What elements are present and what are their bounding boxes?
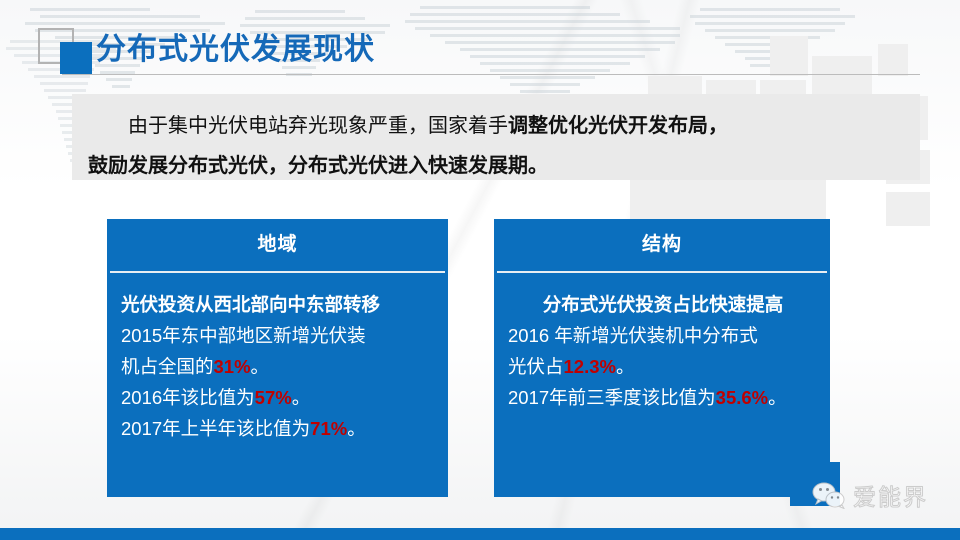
intro-line-1-bold: 调整优化光伏开发布局， xyxy=(508,115,728,137)
card-structure-subtitle: 分布式光伏投资占比快速提高 xyxy=(508,289,818,320)
card-region-line-1: 2015年东中部地区新增光伏装 xyxy=(121,320,436,351)
page-title: 分布式光伏发展现状 xyxy=(96,24,375,68)
card-structure-line-1: 2016 年新增光伏装机中分布式 xyxy=(508,320,818,351)
highlight-value: 35.6% xyxy=(716,387,768,408)
card-region-body: 光伏投资从西北部向中东部转移 2015年东中部地区新增光伏装 机占全国的31%。… xyxy=(107,273,448,444)
card-region-line-3: 2016年该比值为57%。 xyxy=(121,382,436,413)
intro-line-1-plain: 由于集中光伏电站弃光现象严重，国家着手 xyxy=(128,115,508,137)
card-structure-line-2: 光伏占12.3%。 xyxy=(508,351,818,382)
card-region-header: 地域 xyxy=(107,219,448,271)
wechat-icon xyxy=(812,481,846,509)
watermark-text: 爱能界 xyxy=(853,478,928,512)
text-post: 。 xyxy=(292,387,311,408)
card-structure-line-3: 2017年前三季度该比值为35.6%。 xyxy=(508,382,818,413)
intro-line-1: 由于集中光伏电站弃光现象严重，国家着手调整优化光伏开发布局， xyxy=(88,106,902,146)
card-structure-body: 分布式光伏投资占比快速提高 2016 年新增光伏装机中分布式 光伏占12.3%。… xyxy=(494,273,830,413)
text-post: 。 xyxy=(768,387,787,408)
text-pre: 2017年前三季度该比值为 xyxy=(508,387,716,408)
bottom-accent-bar xyxy=(0,528,960,540)
text-post: 。 xyxy=(347,418,366,439)
text-pre: 2015年东中部地区新增光伏装 xyxy=(121,325,366,346)
card-region-line-2: 机占全国的31%。 xyxy=(121,351,436,382)
slide: 分布式光伏发展现状 由于集中光伏电站弃光现象严重，国家着手调整优化光伏开发布局，… xyxy=(0,0,960,540)
text-post: 。 xyxy=(251,356,270,377)
highlight-value: 71% xyxy=(310,418,347,439)
card-region-line-4: 2017年上半年该比值为71%。 xyxy=(121,413,436,444)
highlight-value: 57% xyxy=(255,387,292,408)
card-region[interactable]: 地域 光伏投资从西北部向中东部转移 2015年东中部地区新增光伏装 机占全国的3… xyxy=(107,219,448,497)
text-pre: 2016年该比值为 xyxy=(121,387,255,408)
card-structure-header: 结构 xyxy=(494,219,830,271)
intro-line-2: 鼓励发展分布式光伏，分布式光伏进入快速发展期。 xyxy=(88,146,902,186)
text-pre: 机占全国的 xyxy=(121,356,214,377)
text-pre: 光伏占 xyxy=(508,356,564,377)
watermark: 爱能界 xyxy=(812,478,928,512)
filled-square-icon xyxy=(60,42,92,74)
text-pre: 2016 年新增光伏装机中分布式 xyxy=(508,325,758,346)
text-pre: 2017年上半年该比值为 xyxy=(121,418,310,439)
intro-line-2-bold: 鼓励发展分布式光伏，分布式光伏进入快速发展期。 xyxy=(88,155,548,177)
highlight-value: 12.3% xyxy=(564,356,616,377)
title-underline xyxy=(62,74,920,75)
text-post: 。 xyxy=(616,356,635,377)
page-title-row: 分布式光伏发展现状 xyxy=(38,26,928,76)
card-region-subtitle: 光伏投资从西北部向中东部转移 xyxy=(121,289,436,320)
highlight-value: 31% xyxy=(214,356,251,377)
card-structure[interactable]: 结构 分布式光伏投资占比快速提高 2016 年新增光伏装机中分布式 光伏占12.… xyxy=(494,219,830,497)
intro-paragraph-box: 由于集中光伏电站弃光现象严重，国家着手调整优化光伏开发布局， 鼓励发展分布式光伏… xyxy=(72,94,920,180)
